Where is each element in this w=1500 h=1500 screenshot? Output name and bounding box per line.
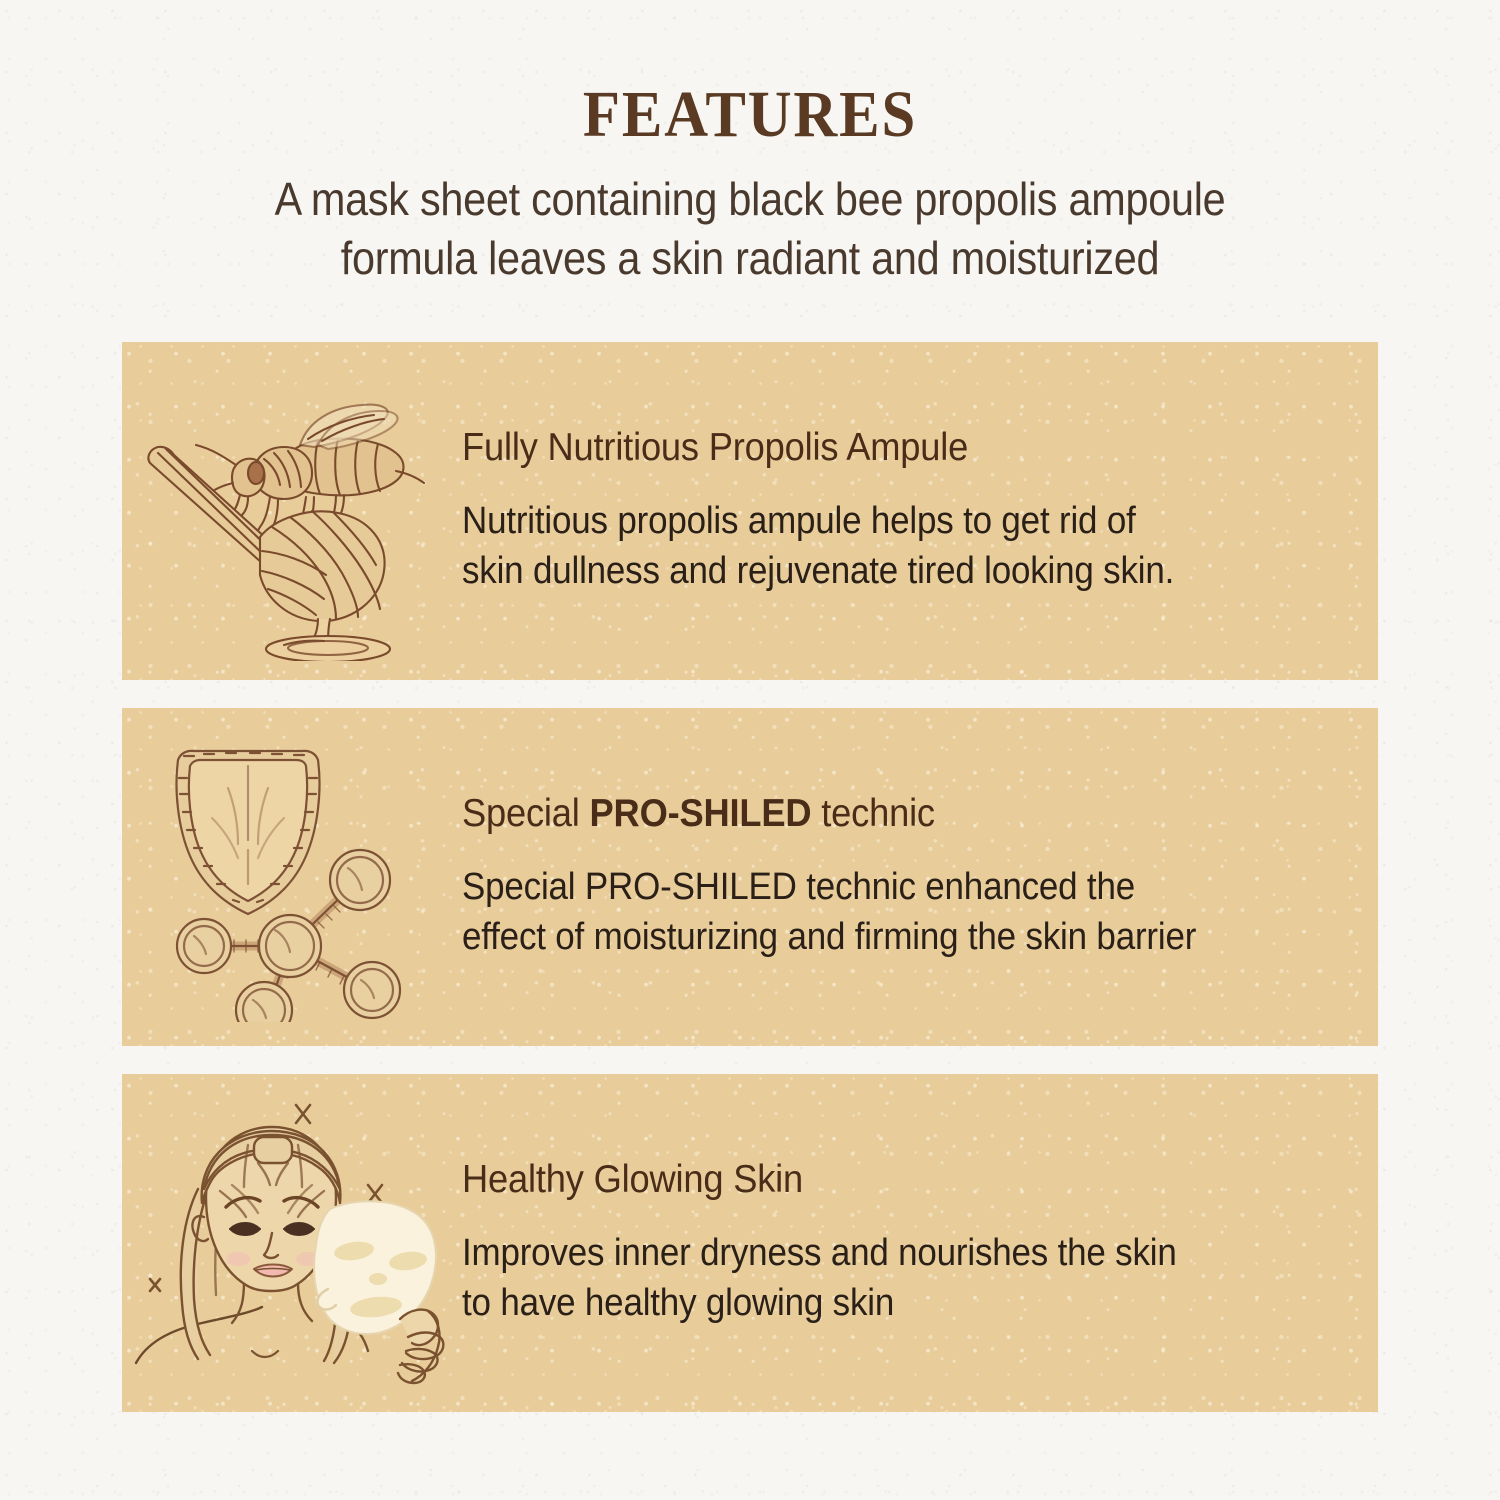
feature-heading: Fully Nutritious Propolis Ampule bbox=[462, 426, 1277, 470]
page-header: FEATURES A mask sheet containing black b… bbox=[0, 0, 1500, 288]
woman-sheet-mask-icon bbox=[122, 1093, 462, 1393]
page-subtitle: A mask sheet containing black bee propol… bbox=[75, 148, 1425, 288]
subtitle-line-2: formula leaves a skin radiant and moistu… bbox=[75, 229, 1425, 288]
feature-card-text: Fully Nutritious Propolis Ampule Nutriti… bbox=[462, 426, 1378, 596]
shield-molecule-icon bbox=[122, 727, 462, 1027]
feature-body-line-2: to have healthy glowing skin bbox=[462, 1278, 1268, 1328]
feature-body-line-2: effect of moisturizing and firming the s… bbox=[462, 912, 1268, 962]
subtitle-line-1: A mask sheet containing black bee propol… bbox=[75, 170, 1425, 229]
feature-heading-prefix: Fully Nutritious Propolis Ampule bbox=[462, 426, 968, 469]
feature-body-line-2: skin dullness and rejuvenate tired looki… bbox=[462, 546, 1268, 596]
feature-card-healthy-glowing-skin: Healthy Glowing Skin Improves inner dryn… bbox=[122, 1074, 1378, 1412]
feature-body-line-1: Improves inner dryness and nourishes the… bbox=[462, 1228, 1268, 1278]
feature-body: Nutritious propolis ampule helps to get … bbox=[462, 496, 1268, 596]
feature-heading-prefix: Healthy Glowing Skin bbox=[462, 1158, 803, 1201]
feature-body-line-1: Special PRO-SHILED technic enhanced the bbox=[462, 862, 1268, 912]
feature-heading-bold: PRO-SHILED bbox=[590, 792, 812, 835]
page-title: FEATURES bbox=[60, 0, 1440, 148]
feature-heading: Special PRO-SHILED technic bbox=[462, 792, 1277, 836]
features-page: FEATURES A mask sheet containing black b… bbox=[0, 0, 1500, 1500]
feature-card-text: Special PRO-SHILED technic Special PRO-S… bbox=[462, 792, 1378, 962]
feature-heading-prefix: Special bbox=[462, 792, 590, 835]
feature-card-text: Healthy Glowing Skin Improves inner dryn… bbox=[462, 1158, 1378, 1328]
feature-body: Improves inner dryness and nourishes the… bbox=[462, 1228, 1268, 1328]
feature-card-propolis-ampule: Fully Nutritious Propolis Ampule Nutriti… bbox=[122, 342, 1378, 680]
feature-heading-suffix: technic bbox=[811, 792, 935, 835]
feature-body: Special PRO-SHILED technic enhanced the … bbox=[462, 862, 1268, 962]
bee-honey-dipper-icon bbox=[122, 361, 462, 661]
feature-heading: Healthy Glowing Skin bbox=[462, 1158, 1277, 1202]
feature-card-pro-shiled: Special PRO-SHILED technic Special PRO-S… bbox=[122, 708, 1378, 1046]
feature-body-line-1: Nutritious propolis ampule helps to get … bbox=[462, 496, 1268, 546]
